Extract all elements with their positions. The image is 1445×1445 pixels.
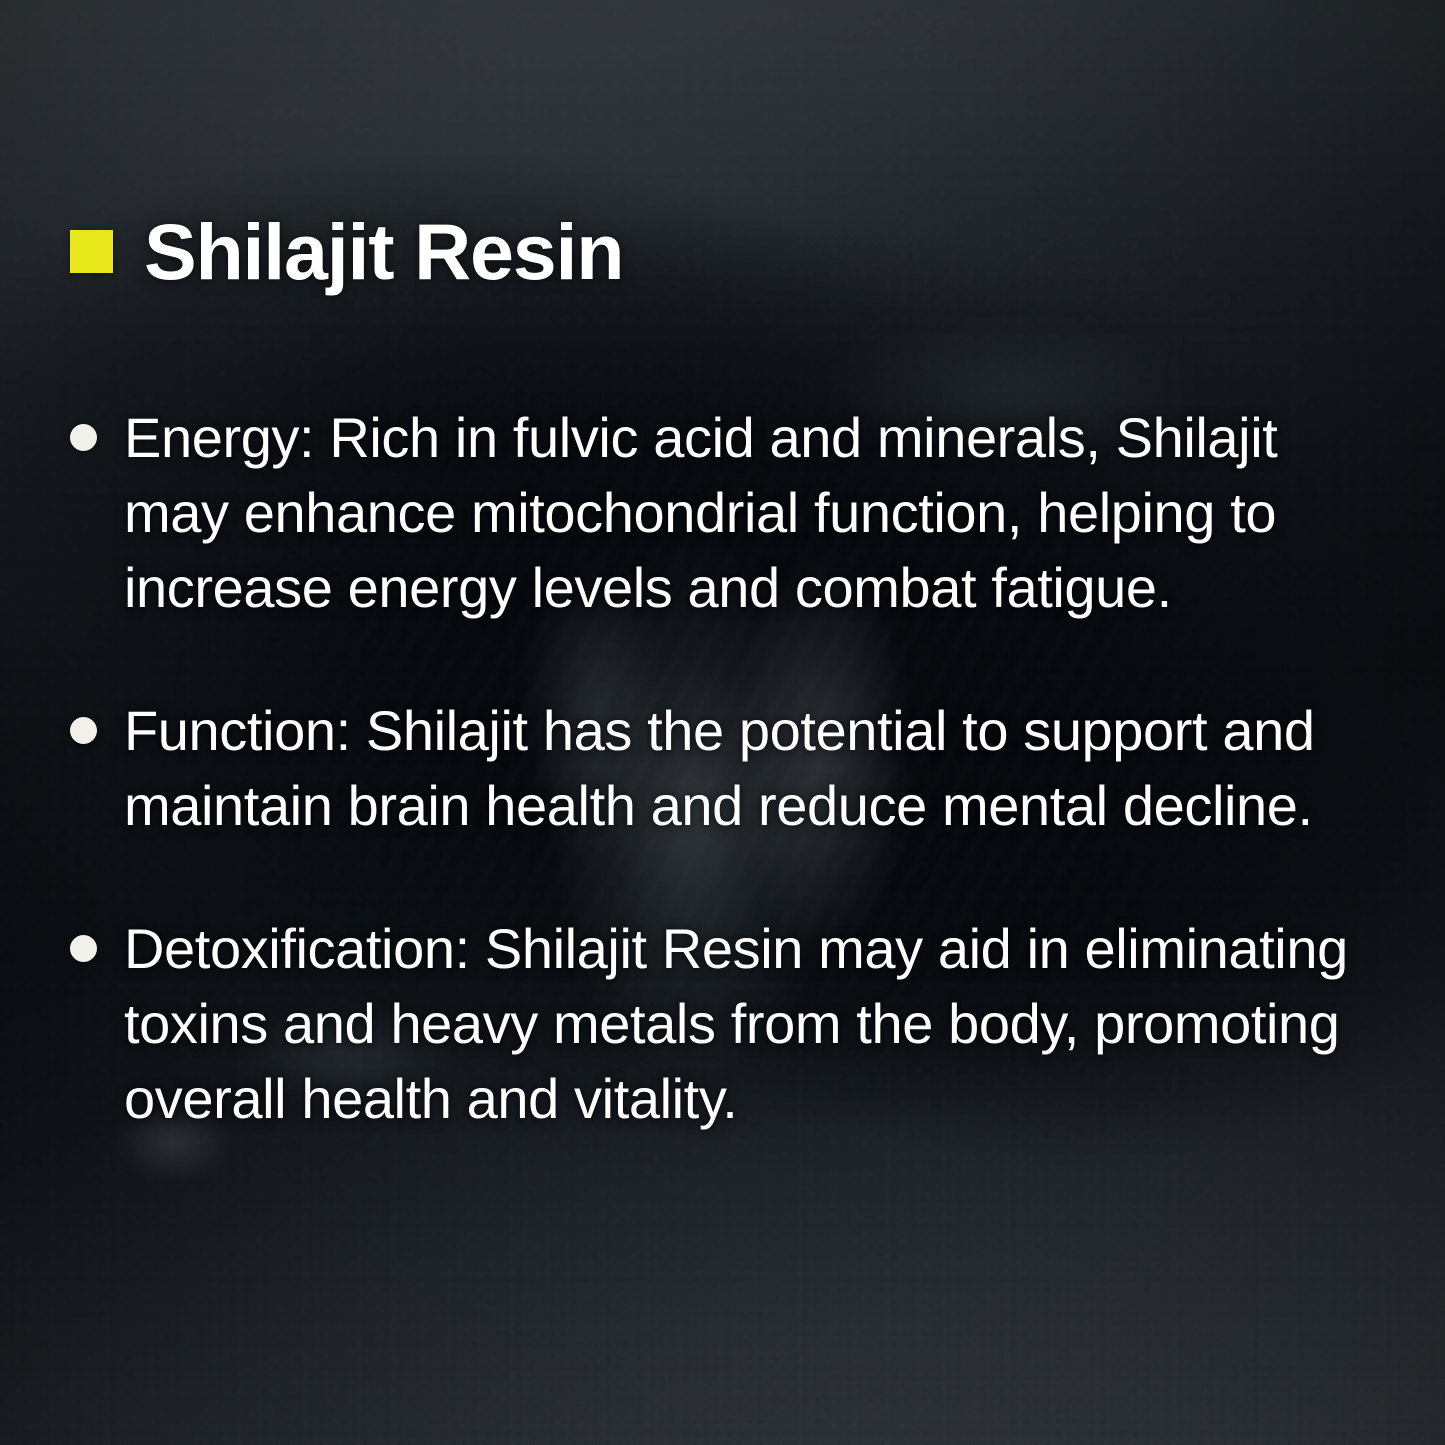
slide-content: Shilajit Resin Energy: Rich in fulvic ac… [0,0,1445,1445]
list-item: Function: Shilajit has the potential to … [70,693,1390,843]
circle-bullet-icon [70,717,97,744]
product-benefits-slide: Shilajit Resin Energy: Rich in fulvic ac… [0,0,1445,1445]
yellow-square-marker-icon [70,230,113,273]
list-item: Detoxification: Shilajit Resin may aid i… [70,911,1390,1136]
slide-heading: Shilajit Resin [70,212,623,291]
circle-bullet-icon [70,935,97,962]
page-title: Shilajit Resin [144,212,623,291]
list-item: Energy: Rich in fulvic acid and minerals… [70,400,1390,625]
benefit-text-detoxification: Detoxification: Shilajit Resin may aid i… [124,911,1390,1136]
circle-bullet-icon [70,424,97,451]
benefits-list: Energy: Rich in fulvic acid and minerals… [70,400,1390,1136]
benefit-text-energy: Energy: Rich in fulvic acid and minerals… [124,400,1390,625]
benefit-text-function: Function: Shilajit has the potential to … [124,693,1390,843]
